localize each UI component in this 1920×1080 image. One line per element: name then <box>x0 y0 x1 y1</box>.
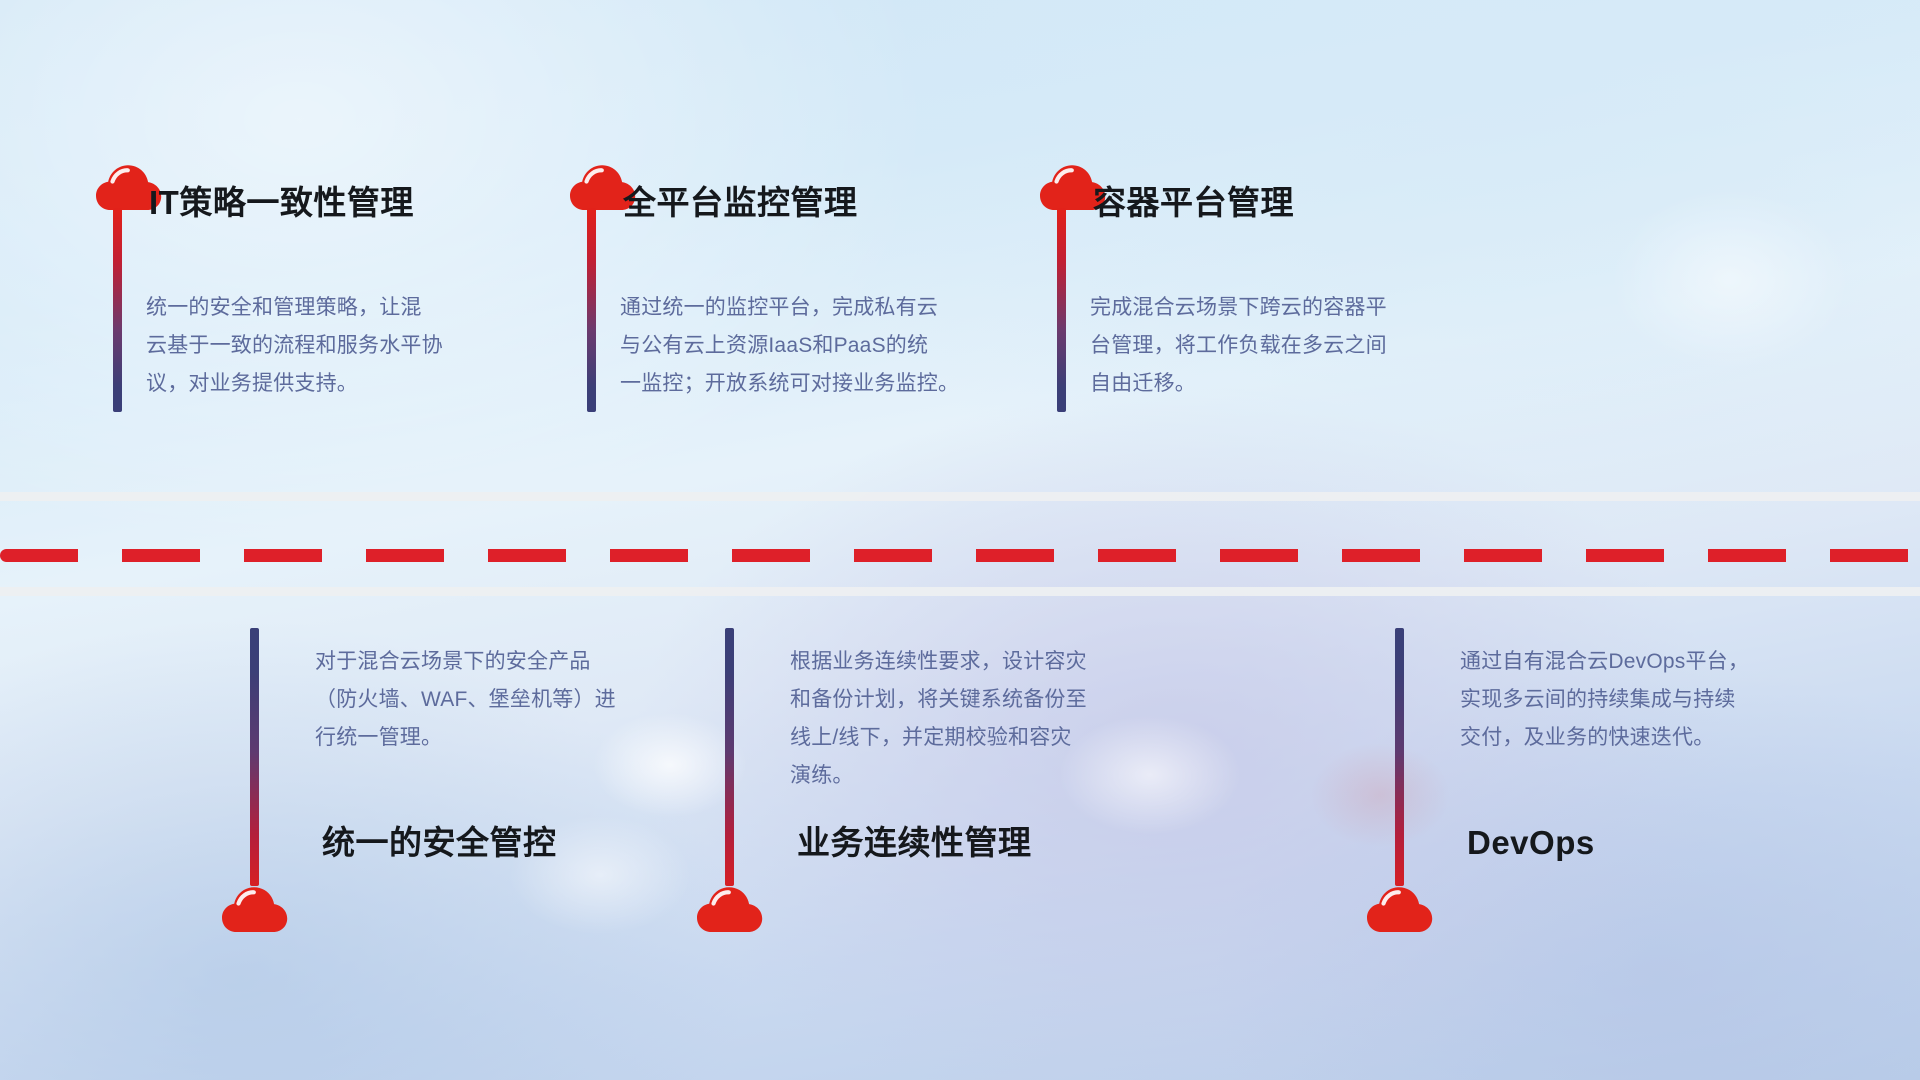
top-column-2: 全平台监控管理 通过统一的监控平台，完成私有云 与公有云上资源IaaS和PaaS… <box>570 164 636 212</box>
divider-line-top <box>0 492 1920 501</box>
connector-bar <box>113 208 122 412</box>
item-title: 业务连续性管理 <box>797 826 1032 859</box>
item-title: 容器平台管理 <box>1093 186 1294 219</box>
item-title: DevOps <box>1467 826 1595 859</box>
item-description: 通过统一的监控平台，完成私有云 与公有云上资源IaaS和PaaS的统 一监控；开… <box>620 289 1010 403</box>
top-column-1: IT策略一致性管理 统一的安全和管理策略，让混 云基于一致的流程和服务水平协 议… <box>96 164 162 212</box>
item-description: 通过自有混合云DevOps平台， 实现多云间的持续集成与持续 交付，及业务的快速… <box>1460 643 1860 757</box>
connector-bar <box>1395 628 1404 886</box>
item-description: 对于混合云场景下的安全产品 （防火墙、WAF、堡垒机等）进 行统一管理。 <box>315 643 715 757</box>
connector-bar <box>587 208 596 412</box>
infographic-canvas: IT策略一致性管理 统一的安全和管理策略，让混 云基于一致的流程和服务水平协 议… <box>0 0 1920 1080</box>
dashed-separator <box>0 549 1920 562</box>
decorative-blob <box>1280 720 1480 870</box>
item-description: 统一的安全和管理策略，让混 云基于一致的流程和服务水平协 议，对业务提供支持。 <box>146 289 526 403</box>
cloud-icon <box>1367 886 1433 934</box>
item-title: IT策略一致性管理 <box>149 186 414 219</box>
item-title: 统一的安全管控 <box>322 826 557 859</box>
decorative-blob <box>1560 150 1900 410</box>
top-column-3: 容器平台管理 完成混合云场景下跨云的容器平 台管理，将工作负载在多云之间 自由迁… <box>1040 164 1106 212</box>
decorative-blob <box>470 790 730 960</box>
connector-bar <box>725 628 734 886</box>
item-description: 完成混合云场景下跨云的容器平 台管理，将工作负载在多云之间 自由迁移。 <box>1090 289 1480 403</box>
item-title: 全平台监控管理 <box>623 186 858 219</box>
cloud-icon <box>222 886 288 934</box>
item-description: 根据业务连续性要求，设计容灾 和备份计划，将关键系统备份至 线上/线下，并定期校… <box>790 643 1190 795</box>
connector-bar <box>1057 208 1066 412</box>
divider-line-bottom <box>0 587 1920 596</box>
connector-bar <box>250 628 259 886</box>
cloud-icon <box>697 886 763 934</box>
